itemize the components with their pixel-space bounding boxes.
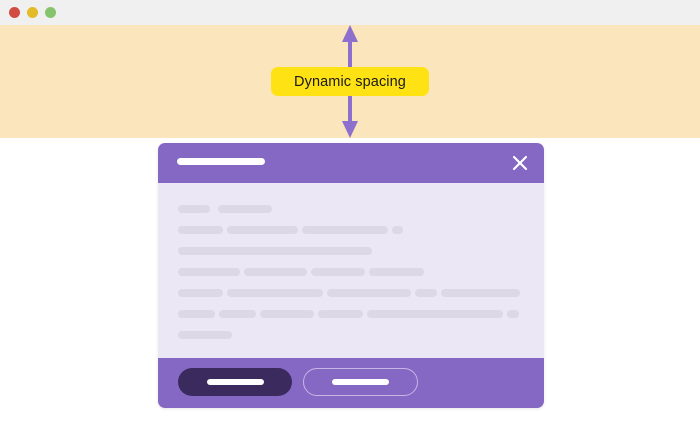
modal-footer (158, 358, 544, 408)
skeleton-segment (415, 289, 437, 297)
skeleton-line (178, 331, 524, 339)
window-zoom-button[interactable] (45, 7, 56, 18)
skeleton-line (178, 226, 524, 234)
dynamic-spacing-label: Dynamic spacing (271, 67, 429, 96)
skeleton-segment (369, 268, 424, 276)
skeleton-segment (218, 205, 272, 213)
window-titlebar (0, 0, 700, 25)
skeleton-segment (260, 310, 314, 318)
close-icon[interactable] (510, 153, 530, 173)
modal-dialog (158, 143, 544, 408)
secondary-button-label-placeholder (332, 379, 389, 385)
skeleton-line (178, 247, 524, 255)
primary-button-label-placeholder (207, 379, 264, 385)
skeleton-segment (311, 268, 365, 276)
skeleton-segment (507, 310, 519, 318)
skeleton-segment (178, 331, 232, 339)
window-minimize-button[interactable] (27, 7, 38, 18)
window-close-button[interactable] (9, 7, 20, 18)
skeleton-segment (227, 289, 323, 297)
skeleton-line (178, 289, 524, 297)
skeleton-segment (302, 226, 388, 234)
modal-primary-button[interactable] (178, 368, 292, 396)
skeleton-gap (210, 205, 218, 213)
skeleton-segment (178, 268, 240, 276)
skeleton-segment (178, 226, 223, 234)
skeleton-segment (178, 205, 210, 213)
skeleton-segment (367, 310, 503, 318)
modal-title-placeholder (177, 158, 265, 165)
skeleton-line (178, 310, 524, 318)
modal-secondary-button[interactable] (303, 368, 418, 396)
skeleton-line (178, 268, 524, 276)
traffic-light-group (9, 7, 56, 18)
arrow-up-icon (342, 25, 358, 42)
skeleton-segment (318, 310, 363, 318)
skeleton-segment (441, 289, 520, 297)
modal-body (158, 183, 544, 358)
skeleton-segment (178, 289, 223, 297)
skeleton-segment (227, 226, 298, 234)
skeleton-segment (178, 247, 372, 255)
arrow-down-icon (342, 121, 358, 138)
modal-header (158, 143, 544, 183)
skeleton-segment (327, 289, 411, 297)
page-canvas: Dynamic spacing (0, 25, 700, 445)
skeleton-segment (244, 268, 307, 276)
skeleton-segment (219, 310, 256, 318)
skeleton-segment (392, 226, 403, 234)
skeleton-segment (178, 310, 215, 318)
skeleton-line (178, 205, 524, 213)
